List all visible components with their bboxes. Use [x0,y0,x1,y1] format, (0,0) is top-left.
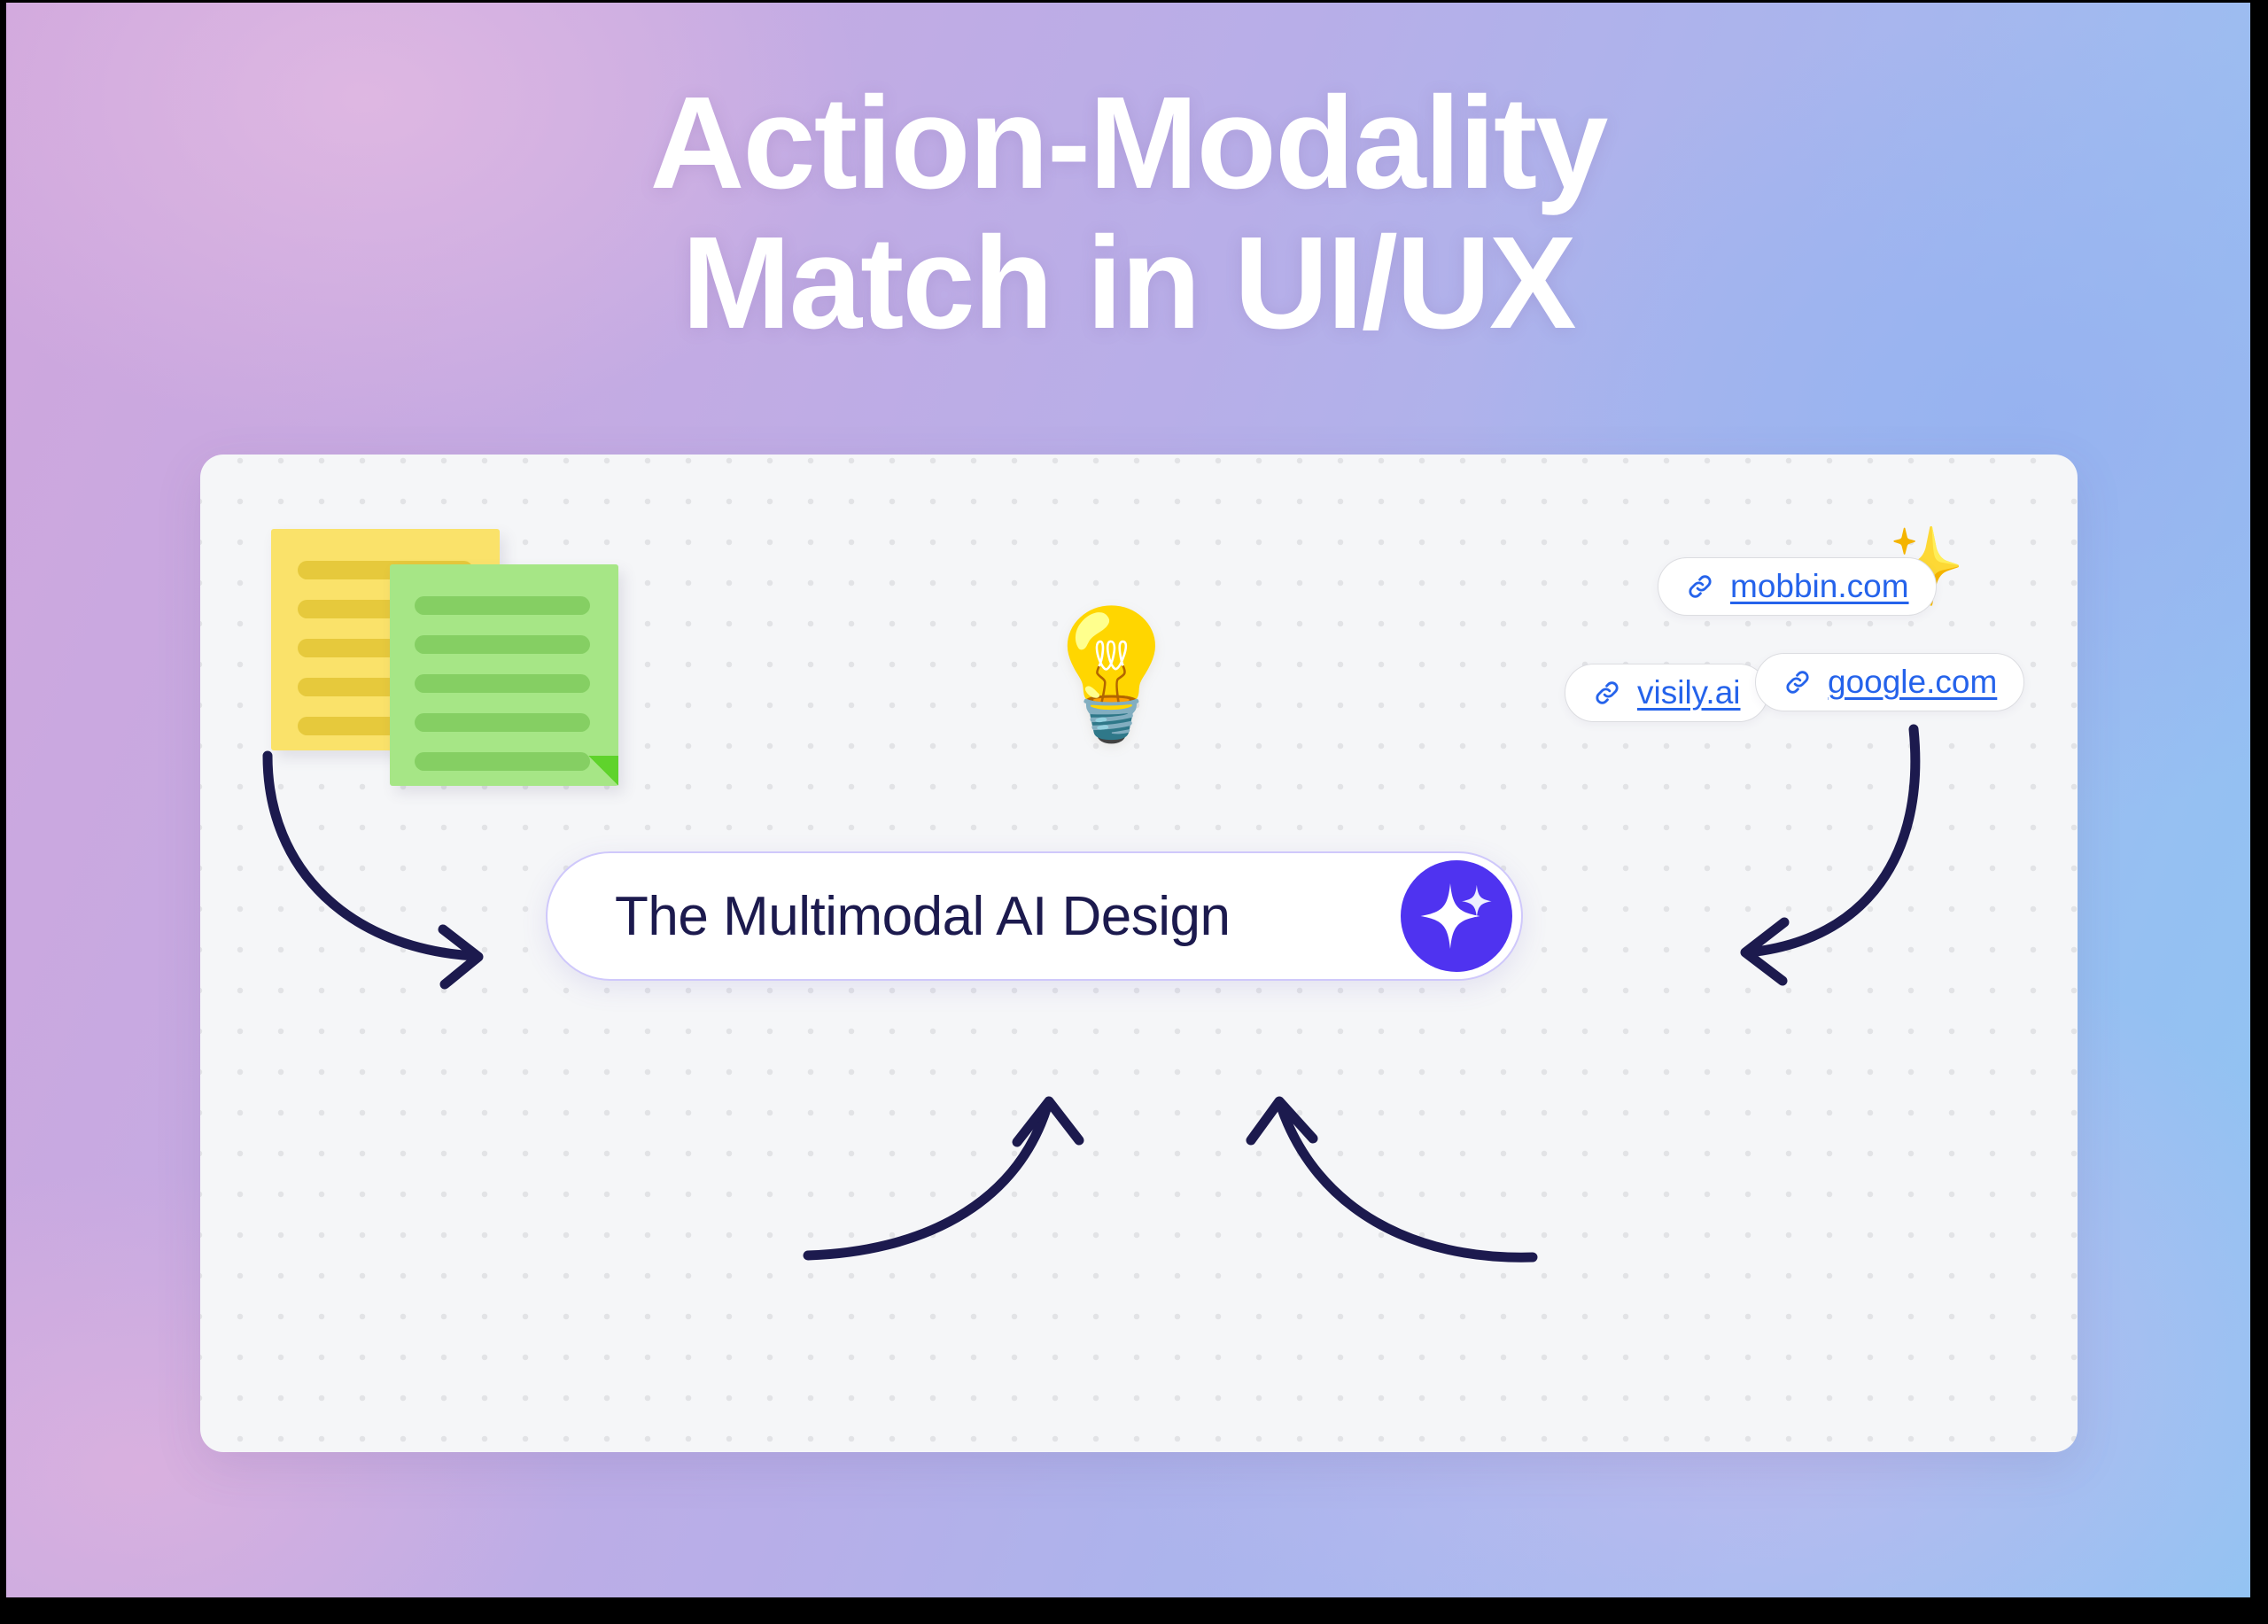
page-fold-corner [588,756,618,786]
arrow-promptbox-to-prompt [1201,1092,1547,1270]
link-chip-label: google.com [1828,664,1997,701]
link-chip-label: visily.ai [1637,674,1741,711]
arrow-mockups-to-prompt [794,1092,1095,1270]
arrow-links-to-prompt [1717,720,1956,986]
headline-line-1: Action-Modality [650,70,1607,216]
note-line [415,713,590,732]
link-chip-google[interactable]: google.com [1755,653,2024,711]
poster-frame: Action-Modality Match in UI/UX 💡 ✨ [6,3,2250,1597]
link-icon [1685,571,1715,602]
link-icon [1783,667,1813,697]
design-canvas[interactable]: 💡 ✨ mobbin.com visily.ai google.com [200,455,2078,1452]
note-line [415,674,590,693]
ai-prompt-bar-text: The Multimodal AI Design [615,885,1230,948]
link-chip-visily[interactable]: visily.ai [1565,664,1768,722]
note-line [415,752,590,771]
sparkles-icon [1417,877,1495,955]
green-sticky-note[interactable] [390,564,618,786]
headline-line-2: Match in UI/UX [6,214,2250,354]
link-chip-mobbin[interactable]: mobbin.com [1658,557,1937,616]
note-line [415,635,590,654]
page-title: Action-Modality Match in UI/UX [6,74,2250,354]
link-icon [1592,678,1622,708]
note-line [415,596,590,615]
link-chip-label: mobbin.com [1730,568,1909,605]
generate-ai-button[interactable] [1401,860,1512,972]
lightbulb-icon: 💡 [1033,612,1190,738]
ai-prompt-bar[interactable]: The Multimodal AI Design [546,851,1523,981]
